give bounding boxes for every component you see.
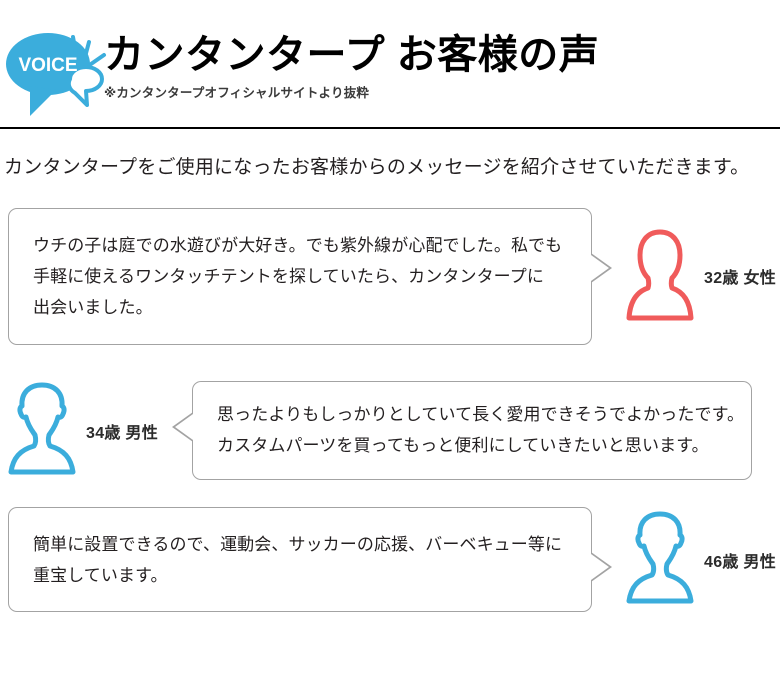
testimonial-row: 思ったよりもしっかりとしていて長く愛用できそうでよかったです。 カスタムパーツを… (0, 376, 780, 485)
testimonial-line: 出会いました。 (33, 293, 567, 324)
testimonial-line: 思ったよりもしっかりとしていて長く愛用できそうでよかったです。 (217, 400, 727, 431)
testimonial-row: 簡単に設置できるので、運動会、サッカーの応援、バーベキュー等に 重宝しています。… (0, 505, 780, 614)
title-block: カンタンタープ お客様の声 ※カンタンタープオフィシャルサイトより抜粋 (104, 34, 599, 101)
person-block: 46歳 男性 (624, 505, 776, 614)
voice-badge-text: VOICE (18, 55, 77, 76)
testimonial-line: ウチの子は庭での水遊びが大好き。でも紫外線が心配でした。私でも (33, 231, 567, 262)
person-label: 34歳 男性 (86, 419, 158, 443)
bubble-tail-fill (591, 255, 609, 281)
header-divider (0, 127, 780, 129)
testimonial-line: 手軽に使えるワンタッチテントを探していたら、カンタンタープに (33, 262, 567, 293)
person-label: 46歳 男性 (704, 548, 776, 572)
person-label: 32歳 女性 (704, 264, 776, 288)
page-title: カンタンタープ お客様の声 (104, 34, 599, 76)
testimonial-bubble: ウチの子は庭での水遊びが大好き。でも紫外線が心配でした。私でも 手軽に使えるワン… (8, 208, 592, 345)
person-block: 32歳 女性 (624, 222, 776, 331)
female-avatar-icon (624, 222, 696, 331)
male-avatar-icon (624, 505, 696, 614)
testimonial-row: ウチの子は庭での水遊びが大好き。でも紫外線が心配でした。私でも 手軽に使えるワン… (0, 208, 780, 345)
bubble-tail-fill (591, 554, 609, 580)
testimonial-bubble: 思ったよりもしっかりとしていて長く愛用できそうでよかったです。 カスタムパーツを… (192, 381, 752, 481)
voice-badge: VOICE (4, 24, 108, 120)
testimonial-bubble: 簡単に設置できるので、運動会、サッカーの応援、バーベキュー等に 重宝しています。 (8, 507, 592, 613)
person-block: 34歳 男性 (6, 376, 158, 485)
testimonial-bubble-wrap: ウチの子は庭での水遊びが大好き。でも紫外線が心配でした。私でも 手軽に使えるワン… (8, 208, 592, 345)
intro-text: カンタンタープをご使用になったお客様からのメッセージを紹介させていただきます。 (4, 152, 749, 179)
testimonial-bubble-wrap: 思ったよりもしっかりとしていて長く愛用できそうでよかったです。 カスタムパーツを… (192, 381, 752, 481)
testimonial-line: 重宝しています。 (33, 561, 567, 592)
male-avatar-icon (6, 376, 78, 485)
page-header: VOICE カンタンタープ お客様の声 ※カンタンタープオフィシャルサイトより抜… (0, 0, 780, 128)
testimonial-line: 簡単に設置できるので、運動会、サッカーの応援、バーベキュー等に (33, 530, 567, 561)
bubble-tail-fill (175, 414, 193, 440)
source-note: ※カンタンタープオフィシャルサイトより抜粋 (104, 82, 599, 101)
testimonial-line: カスタムパーツを買ってもっと便利にしていきたいと思います。 (217, 431, 727, 462)
testimonial-bubble-wrap: 簡単に設置できるので、運動会、サッカーの応援、バーベキュー等に 重宝しています。 (8, 507, 592, 613)
